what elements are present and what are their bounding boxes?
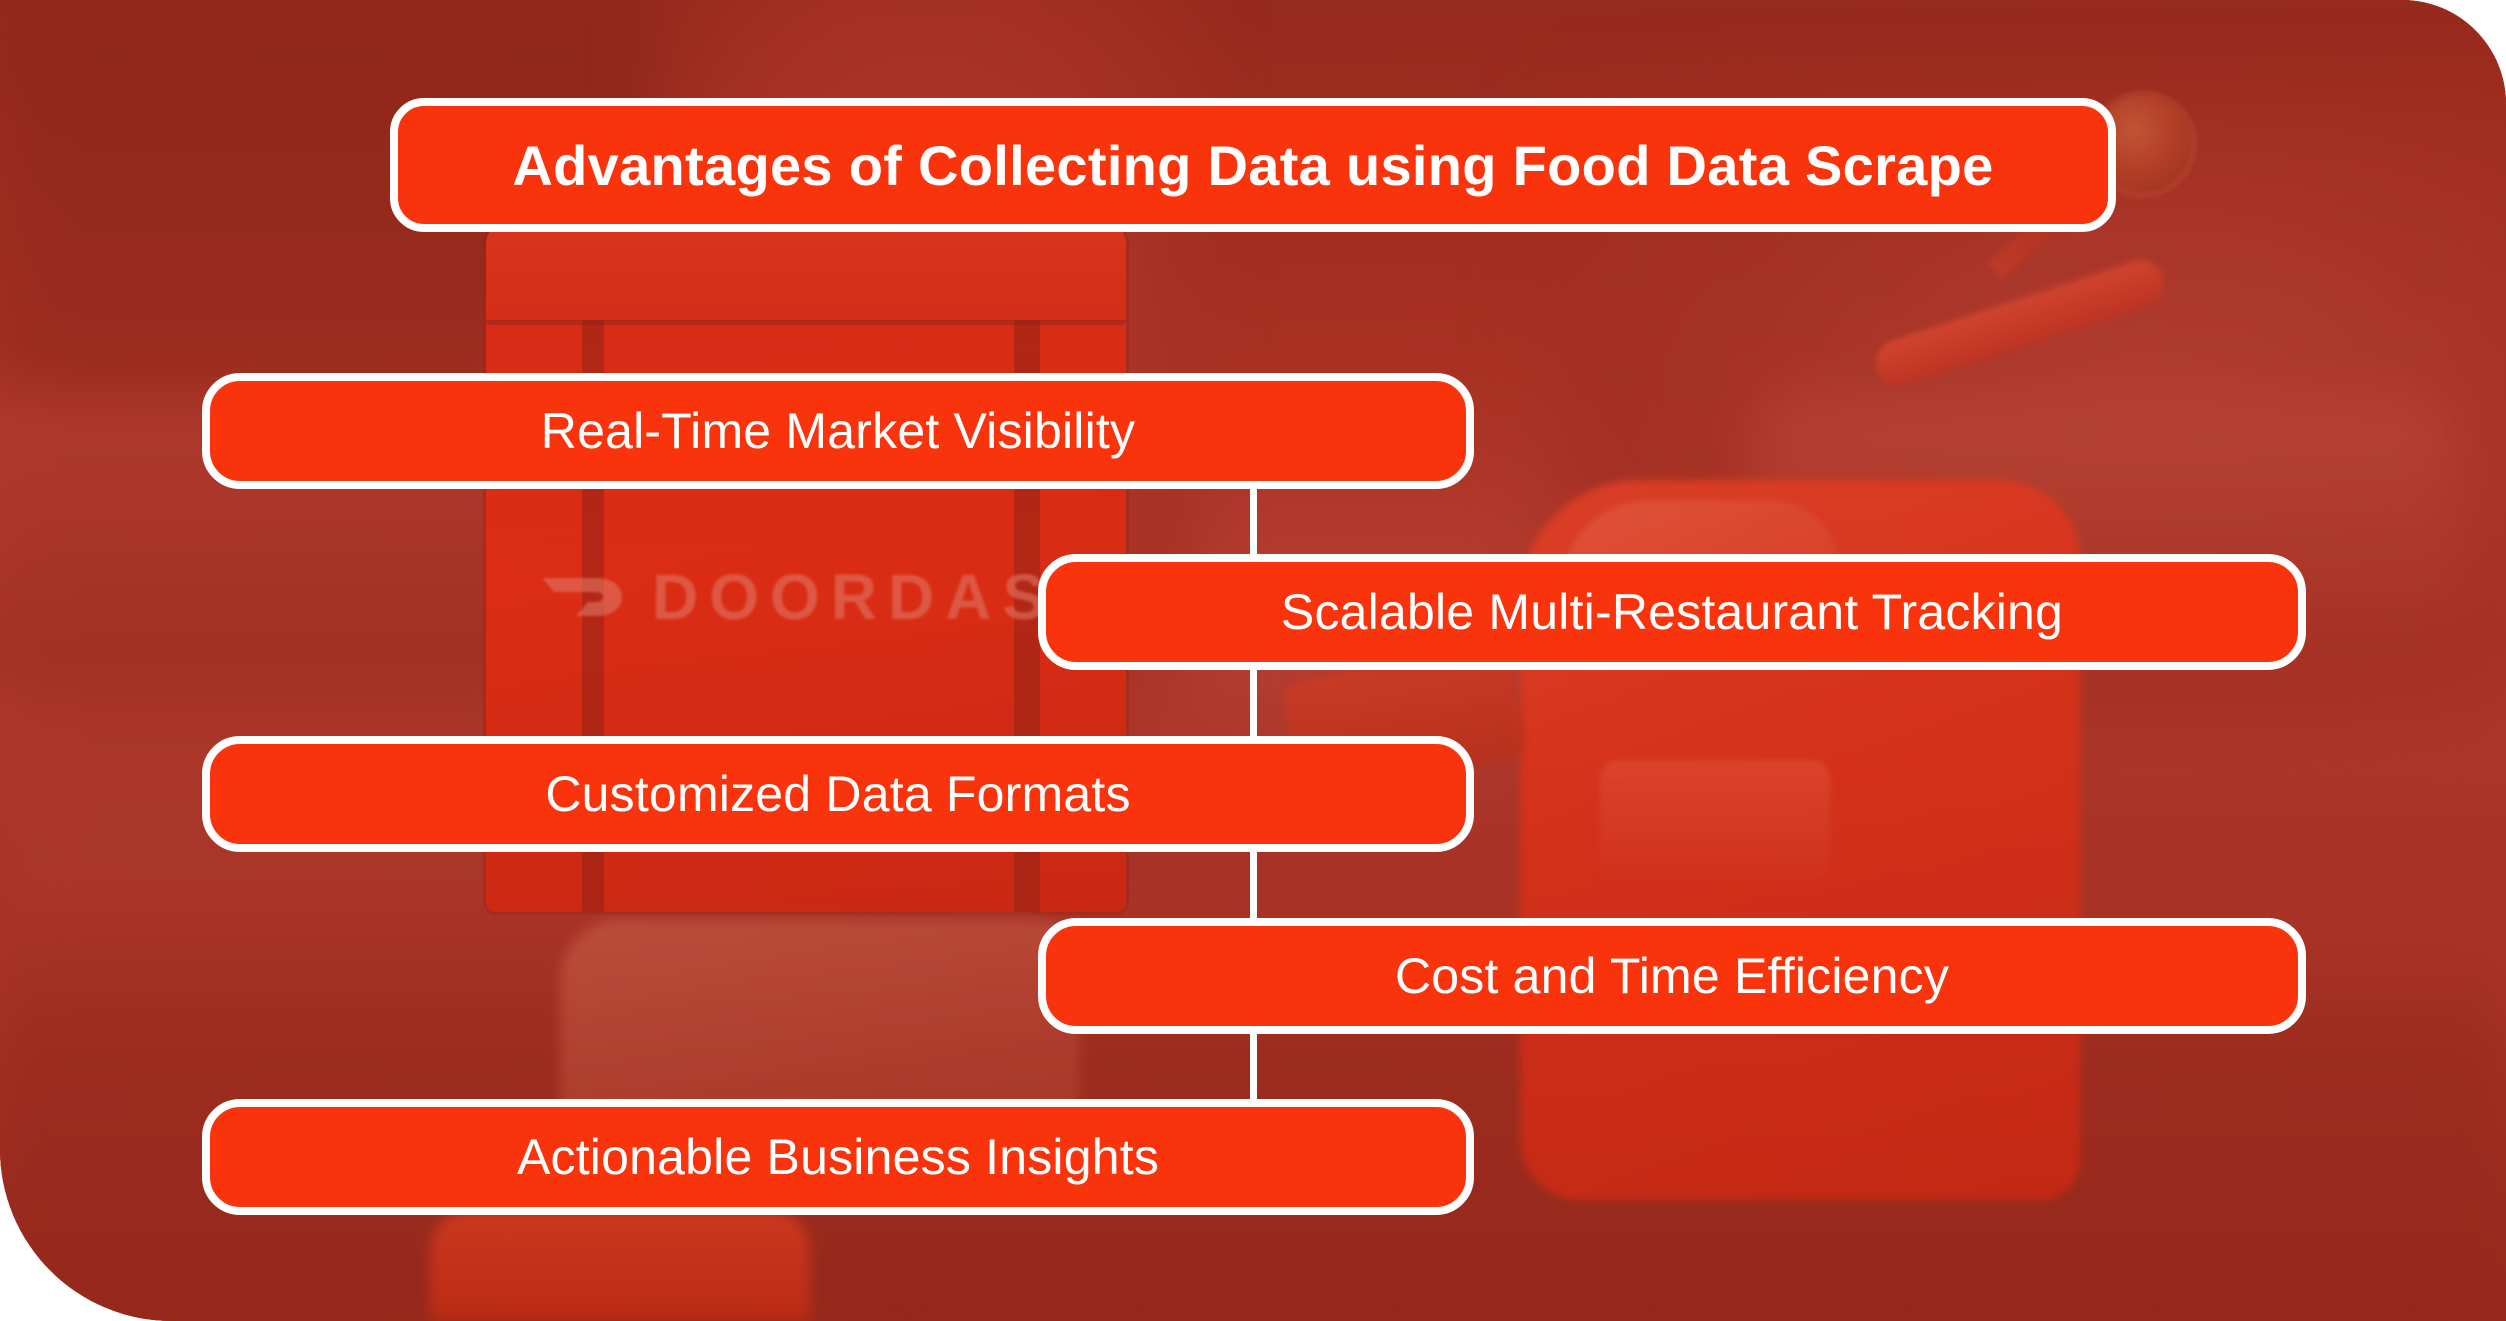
infographic-canvas: DOORDASH Advantages of Collecting Data u…	[0, 0, 2506, 1321]
infographic-content: Advantages of Collecting Data using Food…	[0, 0, 2506, 1321]
advantage-item-5[interactable]: Actionable Business Insights	[202, 1099, 1474, 1215]
advantage-item-2[interactable]: Scalable Multi-Restaurant Tracking	[1038, 554, 2306, 670]
infographic-title: Advantages of Collecting Data using Food…	[390, 98, 2116, 232]
advantage-item-4[interactable]: Cost and Time Efficiency	[1038, 918, 2306, 1034]
advantage-item-1[interactable]: Real-Time Market Visibility	[202, 373, 1474, 489]
advantage-item-3[interactable]: Customized Data Formats	[202, 736, 1474, 852]
